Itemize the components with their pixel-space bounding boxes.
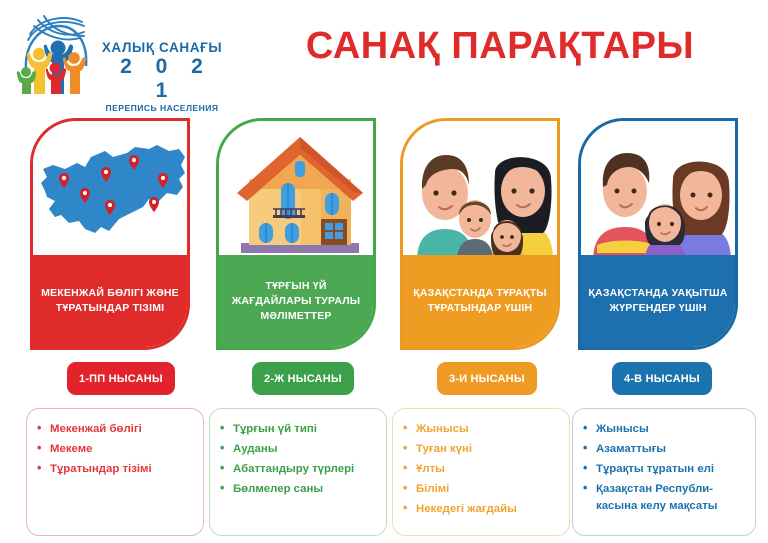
list-item: Жынысы [583,421,747,438]
logo-line-1: ХАЛЫҚ САНАҒЫ [100,40,224,55]
card-art [33,121,187,261]
list-item: Тұратындар тізімі [37,461,195,478]
card-address-section[interactable]: МЕКЕНЖАЙ БӨЛІГІ ЖӘНЕ ТҰРАТЫНДАР ТІЗІМІ [30,118,190,350]
detail-lists-row: Мекенжай бөлігі Мекеме Тұратындар тізімі… [0,408,768,536]
list-item: Ауданы [220,441,378,458]
logo-year: 2 0 2 1 [100,55,224,103]
list-box-address: Мекенжай бөлігі Мекеме Тұратындар тізімі [26,408,204,536]
card-label: ТҰРҒЫН ҮЙ ЖАҒДАЙЛАРЫ ТУРАЛЫ МӘЛІМЕТТЕР [219,255,373,347]
card-housing-conditions[interactable]: ТҰРҒЫН ҮЙ ЖАҒДАЙЛАРЫ ТУРАЛЫ МӘЛІМЕТТЕР [216,118,376,350]
list-item: Абаттандыру түрлері [220,461,378,478]
list-item: Ұлты [403,461,561,478]
badge-form-4v[interactable]: 4-В НЫСАНЫ [612,362,712,395]
card-temporary-residents[interactable]: ҚАЗАҚСТАНДА УАҚЫТША ЖҮРГЕНДЕР ҮШІН [578,118,738,350]
logo-text: ХАЛЫҚ САНАҒЫ 2 0 2 1 ПЕРЕПИСЬ НАСЕЛЕНИЯ [100,40,224,114]
badge-form-1pp[interactable]: 1-ПП НЫСАНЫ [67,362,175,395]
list-box-housing: Тұрғын үй типі Ауданы Абаттандыру түрлер… [209,408,387,536]
list-item: Тұрақты тұратын елі [583,461,747,478]
form-badges-row: 1-ПП НЫСАНЫ 2-Ж НЫСАНЫ 3-И НЫСАНЫ 4-В НЫ… [0,362,768,400]
logo-line-3: ПЕРЕПИСЬ НАСЕЛЕНИЯ [100,103,224,114]
list-item: Қазақстан Республи-касына келу мақсаты [583,481,747,514]
list-item: Мекенжай бөлігі [37,421,195,438]
list-item: Жынысы [403,421,561,438]
card-label: ҚАЗАҚСТАНДА УАҚЫТША ЖҮРГЕНДЕР ҮШІН [581,255,735,347]
list-item: Бөлмелер саны [220,481,378,498]
census-people-logo-icon [14,8,94,96]
list-item: Мекеме [37,441,195,458]
badge-form-3i[interactable]: 3-И НЫСАНЫ [437,362,537,395]
card-permanent-residents[interactable]: ҚАЗАҚСТАНДА ТҰРАҚТЫ ТҰРАТЫНДАР ҮШІН [400,118,560,350]
list-item: Тұрғын үй типі [220,421,378,438]
card-art [219,121,373,261]
list-item: Азаматтығы [583,441,747,458]
card-label: МЕКЕНЖАЙ БӨЛІГІ ЖӘНЕ ТҰРАТЫНДАР ТІЗІМІ [33,255,187,347]
card-art [581,121,735,261]
list-box-permanent: Жынысы Туған күні Ұлты Білімі Некедегі ж… [392,408,570,536]
page-title: САНАҚ ПАРАҚТАРЫ [250,24,750,68]
page-header: ХАЛЫҚ САНАҒЫ 2 0 2 1 ПЕРЕПИСЬ НАСЕЛЕНИЯ … [0,0,768,108]
census-logo: ХАЛЫҚ САНАҒЫ 2 0 2 1 ПЕРЕПИСЬ НАСЕЛЕНИЯ [14,8,214,100]
card-row: МЕКЕНЖАЙ БӨЛІГІ ЖӘНЕ ТҰРАТЫНДАР ТІЗІМІ [0,118,768,353]
list-item: Туған күні [403,441,561,458]
list-item: Некедегі жағдайы [403,501,561,518]
badge-form-2zh[interactable]: 2-Ж НЫСАНЫ [252,362,354,395]
list-item: Білімі [403,481,561,498]
list-box-temporary: Жынысы Азаматтығы Тұрақты тұратын елі Қа… [572,408,756,536]
card-label: ҚАЗАҚСТАНДА ТҰРАҚТЫ ТҰРАТЫНДАР ҮШІН [403,255,557,347]
card-art [403,121,557,261]
